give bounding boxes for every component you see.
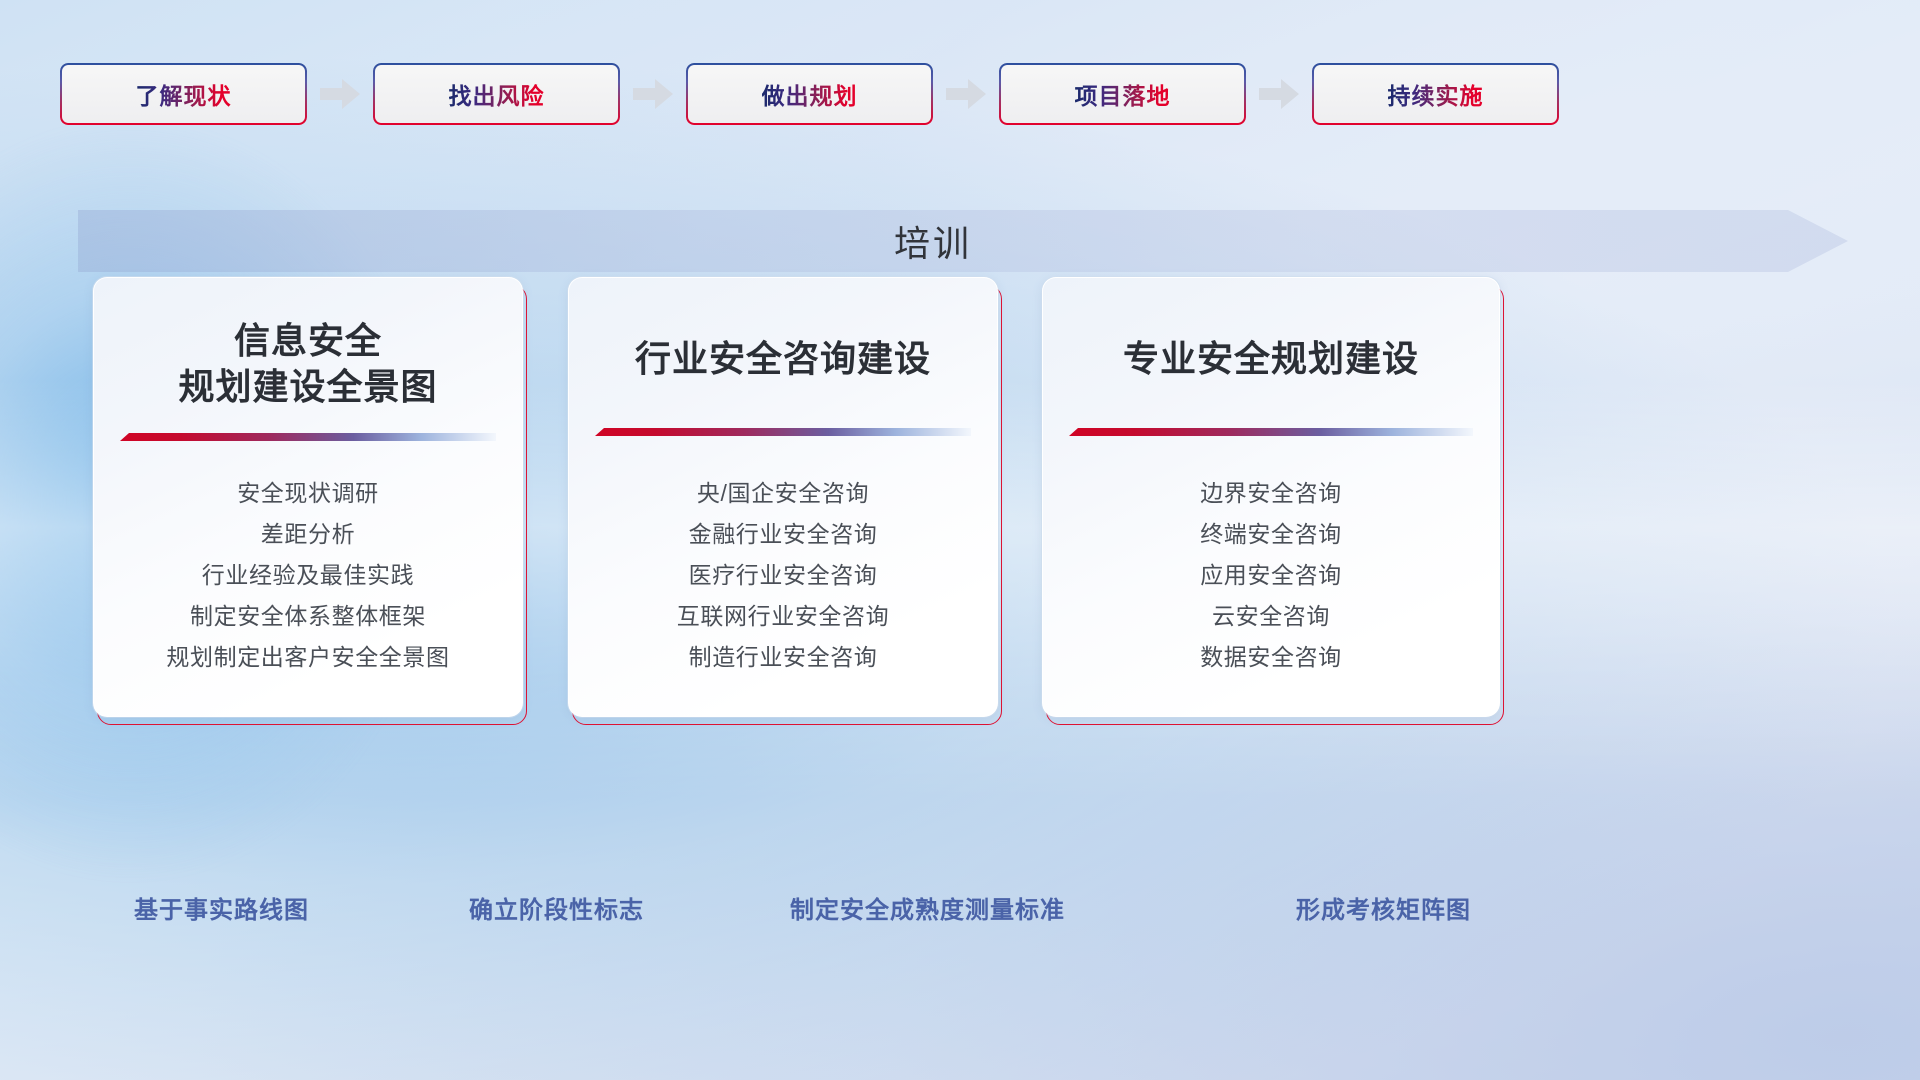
card-panel: 专业安全规划建设 边界安全咨询 终端安全咨询 应用安全咨询 云安全咨询 数据安全… (1042, 277, 1500, 717)
list-item: 制定安全体系整体框架 (110, 596, 506, 637)
caption-maturity: 制定安全成熟度测量标准 (790, 890, 1065, 925)
list-item: 规划制定出客户安全全景图 (110, 637, 506, 678)
arrow-right-icon (1246, 63, 1312, 125)
card-industry-security-consulting[interactable]: 行业安全咨询建设 央/国企安全咨询 金融行业安全咨询 医疗行业安全咨询 互联网行… (568, 277, 998, 717)
step-box-2[interactable]: 找出风险 (373, 63, 620, 125)
step-label: 持续实施 (1388, 77, 1484, 111)
card-accent-rule (595, 428, 971, 436)
list-item: 安全现状调研 (110, 473, 506, 514)
list-item: 终端安全咨询 (1059, 514, 1483, 555)
card-panel: 信息安全 规划建设全景图 安全现状调研 差距分析 行业经验及最佳实践 制定安全体… (93, 277, 523, 717)
card-professional-security-planning[interactable]: 专业安全规划建设 边界安全咨询 终端安全咨询 应用安全咨询 云安全咨询 数据安全… (1042, 277, 1500, 717)
list-item: 边界安全咨询 (1059, 473, 1483, 514)
caption-matrix: 形成考核矩阵图 (1296, 890, 1471, 925)
list-item: 医疗行业安全咨询 (585, 555, 981, 596)
step-label: 找出风险 (449, 77, 545, 111)
step-box-3[interactable]: 做出规划 (686, 63, 933, 125)
card-accent-rule (120, 433, 496, 441)
step-box-5[interactable]: 持续实施 (1312, 63, 1559, 125)
list-item: 应用安全咨询 (1059, 555, 1483, 596)
arrow-right-icon (933, 63, 999, 125)
list-item: 金融行业安全咨询 (585, 514, 981, 555)
arrow-right-icon (307, 63, 373, 125)
list-item: 制造行业安全咨询 (585, 637, 981, 678)
step-box-4[interactable]: 项目落地 (999, 63, 1246, 125)
list-item: 央/国企安全咨询 (585, 473, 981, 514)
list-item: 云安全咨询 (1059, 596, 1483, 637)
list-item: 数据安全咨询 (1059, 637, 1483, 678)
step-label: 做出规划 (762, 77, 858, 111)
list-item: 互联网行业安全咨询 (585, 596, 981, 637)
card-panel: 行业安全咨询建设 央/国企安全咨询 金融行业安全咨询 医疗行业安全咨询 互联网行… (568, 277, 998, 717)
card-info-security-blueprint[interactable]: 信息安全 规划建设全景图 安全现状调研 差距分析 行业经验及最佳实践 制定安全体… (93, 277, 523, 717)
card-title: 行业安全咨询建设 (587, 336, 979, 382)
caption-roadmap: 基于事实路线图 (134, 890, 309, 925)
card-item-list: 央/国企安全咨询 金融行业安全咨询 医疗行业安全咨询 互联网行业安全咨询 制造行… (585, 473, 981, 678)
list-item: 行业经验及最佳实践 (110, 555, 506, 596)
caption-milestone: 确立阶段性标志 (469, 890, 644, 925)
step-box-1[interactable]: 了解现状 (60, 63, 307, 125)
arrow-right-icon (620, 63, 686, 125)
card-row: 信息安全 规划建设全景图 安全现状调研 差距分析 行业经验及最佳实践 制定安全体… (0, 277, 1920, 877)
step-label: 项目落地 (1075, 77, 1171, 111)
card-title: 信息安全 规划建设全景图 (112, 318, 504, 410)
step-label: 了解现状 (136, 77, 232, 111)
process-step-strip: 了解现状 找出风险 做出规划 项目落地 (60, 63, 1860, 125)
card-title: 专业安全规划建设 (1061, 336, 1481, 382)
card-item-list: 安全现状调研 差距分析 行业经验及最佳实践 制定安全体系整体框架 规划制定出客户… (110, 473, 506, 678)
list-item: 差距分析 (110, 514, 506, 555)
slide-canvas: 了解现状 找出风险 做出规划 项目落地 (0, 0, 1920, 1080)
training-band-label: 培训 (78, 210, 1788, 272)
card-accent-rule (1069, 428, 1473, 436)
training-arrow-band: 培训 (78, 210, 1848, 272)
card-item-list: 边界安全咨询 终端安全咨询 应用安全咨询 云安全咨询 数据安全咨询 (1059, 473, 1483, 678)
